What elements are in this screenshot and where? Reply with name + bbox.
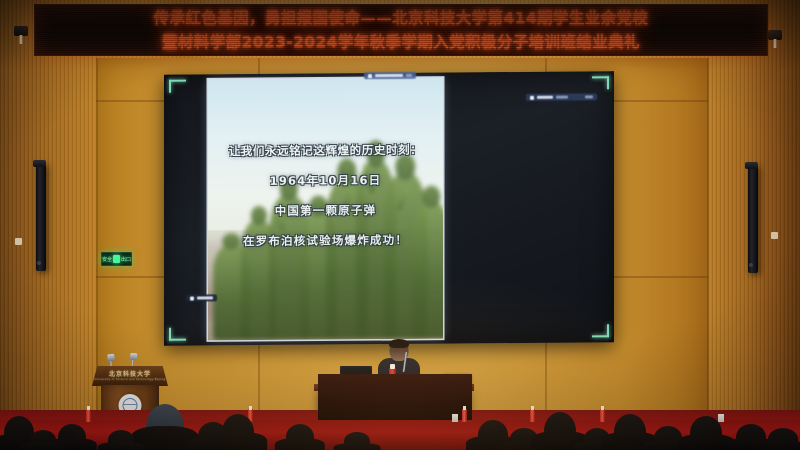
screen-corner-marker-top-right [592,76,609,89]
screen-corner-marker-top-left [169,80,186,93]
video-caption-block: 让我们永远铭记这辉煌的历史时刻： 1964年10月16日 中国第一颗原子弹 在罗… [208,135,443,257]
player-settings-icon [530,95,534,99]
audience-person [614,414,646,450]
wall-speaker-right [748,165,758,273]
player-window-controls-blur [585,95,593,99]
player-playback-control[interactable] [186,294,217,301]
stage-front-shadow [318,374,472,426]
video-playback-area[interactable]: 让我们永远铭记这辉煌的历史时刻： 1964年10月16日 中国第一颗原子弹 在罗… [208,78,443,341]
audience-person [768,428,798,450]
player-stop-icon [190,296,194,300]
audience-cup [452,414,458,422]
audience-bottle [600,409,605,422]
audience-bottle [462,409,467,422]
projection-screen[interactable]: 让我们永远铭记这辉煌的历史时刻： 1964年10月16日 中国第一颗原子弹 在罗… [164,71,614,346]
exit-sign-label-right: 出口 [121,256,131,263]
player-app-icon [368,74,372,78]
video-caption-line-2: 1964年10月16日 [208,165,443,197]
banner-line-1: 传承红色基因，勇担报国使命——北京科技大学第414期学生业余党校 [154,6,649,30]
player-title-text-blur [375,74,403,78]
spotlight-fixture-right [768,30,782,40]
speaker-hair [389,339,409,348]
audience-person [222,414,254,450]
audience-person [30,430,56,450]
spotlight-fixture-left [14,26,28,36]
led-banner: 传承红色基因，勇担报国使命——北京科技大学第414期学生业余党校 暨材料学部20… [34,4,768,56]
exit-sign-label-left: 安全 [102,256,112,263]
wall-outlet-left [15,238,22,245]
player-quality-label-blur [537,95,553,99]
player-mode-label-blur [556,95,568,99]
audience-bottle [530,409,535,422]
player-title-bar[interactable] [364,72,416,79]
audience-foreground [0,378,800,450]
wall-outlet-right [771,232,778,239]
emergency-exit-sign: 安全 出口 [101,252,132,266]
audience-bottle [86,409,91,422]
screen-corner-marker-bottom-right [592,324,609,337]
video-caption-line-3: 中国第一颗原子弹 [208,195,443,227]
player-title-extra-blur [406,74,412,78]
player-quality-controls[interactable] [526,93,597,101]
player-status-label-blur [197,296,213,300]
audience-person [344,432,370,450]
screen-corner-marker-bottom-left [169,328,186,341]
audience-cup [718,414,724,422]
wall-speaker-left [36,163,46,271]
audience-person [146,404,184,450]
running-man-icon [113,255,120,263]
audience-person [544,412,576,450]
audience-person [286,424,314,450]
banner-line-2: 暨材料学部2023-2024学年秋季学期入党积极分子培训班结业典礼 [162,30,640,54]
lecture-hall-scene: 安全 出口 传承红色基因，勇担报国使命——北京科技大学第414期学生业余党校 暨… [0,0,800,450]
audience-person [108,430,134,450]
video-caption-line-4: 在罗布泊核试验场爆炸成功！ [208,225,443,257]
audience-person [690,416,722,450]
video-caption-line-1: 让我们永远铭记这辉煌的历史时刻： [208,135,443,167]
